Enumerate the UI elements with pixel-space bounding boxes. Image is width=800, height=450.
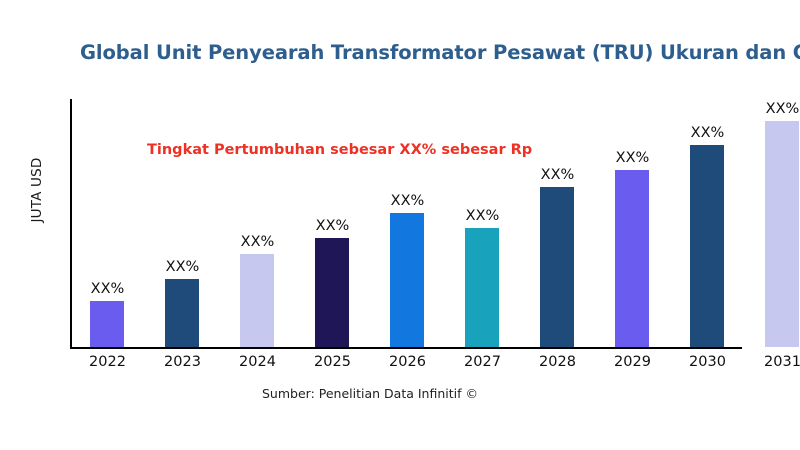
- bar-value-label-2024: XX%: [220, 234, 295, 250]
- growth-rate-annotation: Tingkat Pertumbuhan sebesar XX% sebesar …: [147, 142, 532, 158]
- y-axis-label: JUTA USD: [29, 140, 45, 240]
- x-tick-label-2030: 2030: [670, 354, 745, 370]
- x-tick-label-2024: 2024: [220, 354, 295, 370]
- bar-value-label-2028: XX%: [520, 167, 595, 183]
- x-tick-label-2022: 2022: [70, 354, 145, 370]
- bar-group: XX%: [595, 99, 670, 347]
- bar-group: XX%: [220, 99, 295, 347]
- x-tick-label-2031: 2031: [745, 354, 800, 370]
- bar-2022[interactable]: [90, 301, 124, 347]
- source-note: Sumber: Penelitian Data Infinitif ©: [0, 386, 740, 401]
- plot-area: XX%XX%XX%XX%XX%XX%XX%XX%XX%XX%: [70, 99, 800, 347]
- bar-value-label-2026: XX%: [370, 193, 445, 209]
- bar-value-label-2022: XX%: [70, 281, 145, 297]
- bar-2025[interactable]: [315, 238, 349, 347]
- bar-group: XX%: [445, 99, 520, 347]
- bar-group: XX%: [145, 99, 220, 347]
- bar-group: XX%: [370, 99, 445, 347]
- bar-2023[interactable]: [165, 279, 199, 347]
- bar-2026[interactable]: [390, 213, 424, 347]
- bar-group: XX%: [70, 99, 145, 347]
- x-tick-label-2026: 2026: [370, 354, 445, 370]
- x-tick-label-2028: 2028: [520, 354, 595, 370]
- bar-2027[interactable]: [465, 228, 499, 347]
- x-axis-line: [70, 347, 742, 349]
- bar-value-label-2031: XX%: [745, 101, 800, 117]
- chart-title: Global Unit Penyearah Transformator Pesa…: [80, 41, 800, 64]
- bar-group: XX%: [295, 99, 370, 347]
- bar-chart: Global Unit Penyearah Transformator Pesa…: [0, 0, 800, 450]
- bar-2031[interactable]: [765, 121, 799, 347]
- bar-2028[interactable]: [540, 187, 574, 347]
- x-tick-label-2029: 2029: [595, 354, 670, 370]
- bar-value-label-2027: XX%: [445, 208, 520, 224]
- bar-group: XX%: [745, 99, 800, 347]
- x-tick-label-2025: 2025: [295, 354, 370, 370]
- x-tick-label-2023: 2023: [145, 354, 220, 370]
- bar-2029[interactable]: [615, 170, 649, 347]
- bar-value-label-2029: XX%: [595, 150, 670, 166]
- bar-value-label-2030: XX%: [670, 125, 745, 141]
- bar-group: XX%: [520, 99, 595, 347]
- bar-2030[interactable]: [690, 145, 724, 347]
- bar-value-label-2025: XX%: [295, 218, 370, 234]
- bar-group: XX%: [670, 99, 745, 347]
- bar-value-label-2023: XX%: [145, 259, 220, 275]
- bar-2024[interactable]: [240, 254, 274, 347]
- x-tick-label-2027: 2027: [445, 354, 520, 370]
